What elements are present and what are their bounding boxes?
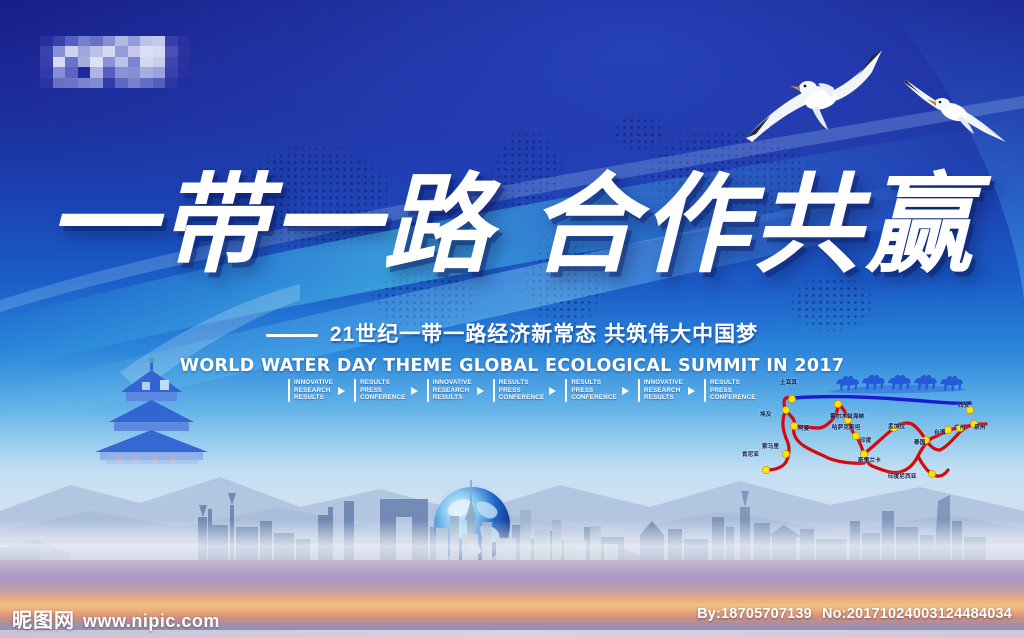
seagull-icon-right (892, 58, 1022, 146)
process-chip: INNOVATIVERESEARCHRESULTS (427, 379, 493, 402)
chevron-right-icon (477, 387, 484, 395)
process-chip-label: RESULTSPRESSCONFERENCE (493, 379, 545, 402)
map-city-label: 土耳其 (780, 378, 797, 386)
process-chip-label: INNOVATIVERESEARCHRESULTS (638, 379, 683, 402)
chevron-right-icon (549, 387, 556, 395)
page-title: 一带一路合作共赢 (0, 150, 1024, 300)
process-chip-label: INNOVATIVERESEARCHRESULTS (427, 379, 472, 402)
process-strip: INNOVATIVERESEARCHRESULTSRESULTSPRESSCON… (288, 379, 761, 402)
subtitle-dash (266, 334, 318, 337)
chevron-right-icon (411, 387, 418, 395)
sea-route-line (794, 397, 970, 404)
process-chip-label: RESULTSPRESSCONFERENCE (354, 379, 406, 402)
process-chip-label: RESULTSPRESSCONFERENCE (565, 379, 617, 402)
chevron-right-icon (688, 387, 695, 395)
watermark-site-url: www.nipic.com (83, 611, 220, 632)
process-chip: RESULTSPRESSCONFERENCE (565, 379, 638, 402)
process-chip: RESULTSPRESSCONFERENCE (493, 379, 566, 402)
process-chip: INNOVATIVERESEARCHRESULTS (638, 379, 704, 402)
chevron-right-icon (338, 387, 345, 395)
headline-left: 一带一路 (47, 162, 495, 288)
site-watermark: 昵图网 www.nipic.com (12, 604, 220, 633)
footer-no-code: No:20171024003124484034 (822, 606, 1012, 622)
process-chip: RESULTSPRESSCONFERENCE (354, 379, 427, 402)
process-chip-label: INNOVATIVERESEARCHRESULTS (288, 379, 333, 402)
watermark-site-name-cn: 昵图网 (12, 604, 75, 633)
poster-canvas: 一带一路合作共赢 21世纪一带一路经济新常态 共筑伟大中国梦 WORLD WAT… (0, 0, 1024, 638)
footer-credits: By:18705707139 No:20171024003124484034 (697, 606, 1012, 622)
subtitle-chinese: 21世纪一带一路经济新常态 共筑伟大中国梦 (0, 318, 1024, 348)
mosaic-watermark (40, 36, 190, 88)
seagull-icon-left (722, 42, 902, 152)
camel-caravan-icon (828, 375, 968, 394)
map-city-label: 西安 (958, 401, 969, 409)
chevron-right-icon (622, 387, 629, 395)
footer-by-code: By:18705707139 (697, 606, 812, 622)
process-chip: INNOVATIVERESEARCHRESULTS (288, 379, 354, 402)
subtitle-chinese-text: 21世纪一带一路经济新常态 共筑伟大中国梦 (330, 323, 758, 346)
headline-right: 合作共赢 (529, 162, 977, 288)
